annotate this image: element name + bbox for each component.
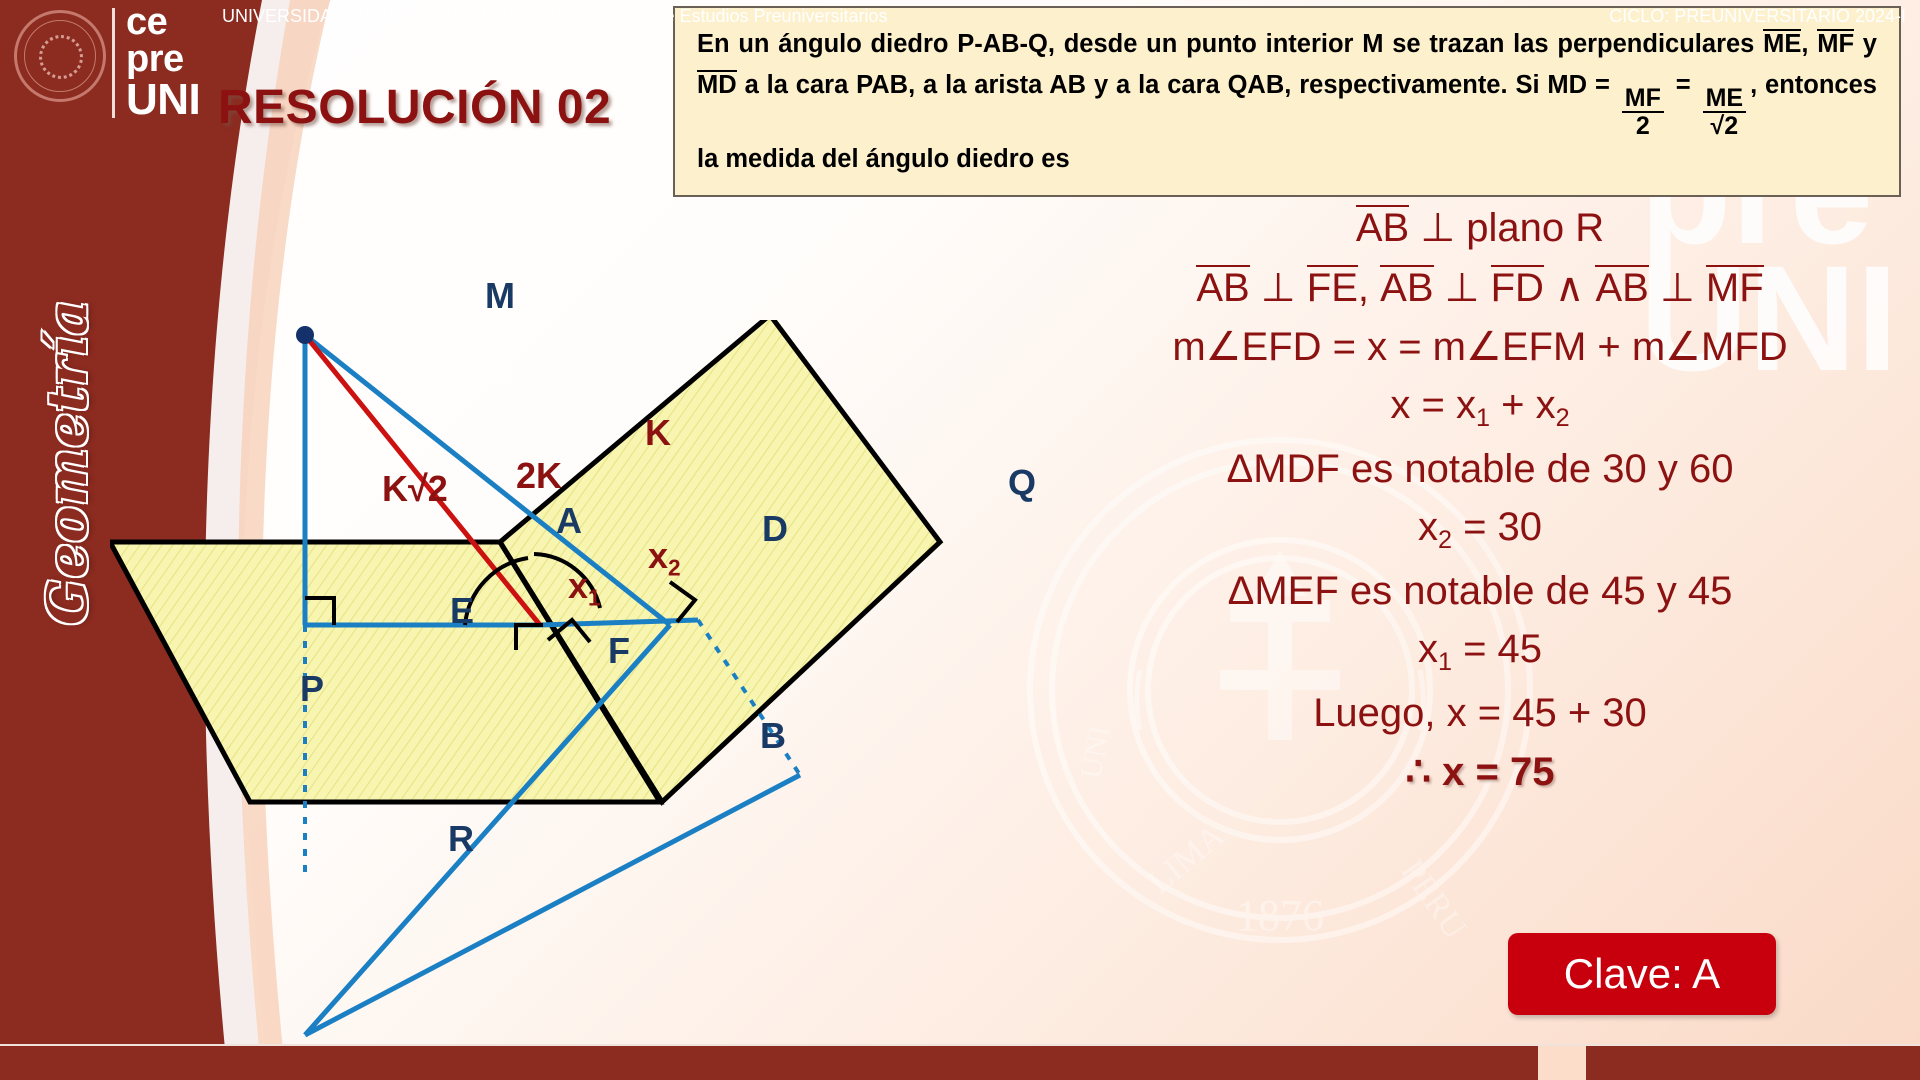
label-x1-sub: 1 [588,584,601,610]
x1-subscript: 1 [1438,649,1452,677]
x2-subscript: 2 [1438,526,1452,554]
logo-divider [112,8,115,118]
logo-line-uni: UNI [126,78,200,121]
segment-MF: MF [1817,29,1854,58]
footer-cycle-text: CICLO: PREUNIVERSITARIO 2024-I [1609,6,1906,27]
label-x1-base: x [568,565,588,606]
uni-seal-logo [14,10,106,102]
solution-line-final-answer: ∴ x = 75 [1060,751,1900,793]
label-E: E [450,590,474,632]
problem-statement-box: En un ángulo diedro P-AB-Q, desde un pun… [673,6,1901,197]
logo-line-pre: pre [126,41,200,78]
solution-seg-AB-2: AB [1196,265,1249,308]
problem-comma1: , [1801,30,1808,58]
label-sqrt2-part: √2 [408,468,448,509]
problem-text-part1: En un ángulo diedro P-AB-Q, desde un pun… [697,30,1754,58]
x-sum-sub1: 1 [1476,404,1490,432]
solution-line-mdf-notable: ΔMDF es notable de 30 y 60 [1060,448,1900,490]
problem-text-part2: a la cara PAB, a la arista AB y a la car… [745,71,1610,99]
solution-seg-AB-3: AB [1380,265,1433,308]
fraction1-denominator: 2 [1622,111,1664,139]
x-sum-pre: x = x [1390,383,1476,427]
label-x2-sub: 2 [668,554,681,580]
cepreuni-logo-text: ce pre UNI [126,4,200,122]
footer-institution-text: UNIVERSIDAD NACIONAL DE INGENIERÍA - Cen… [222,6,888,27]
logo-line-ce: ce [126,4,200,41]
x-sum-mid: + x [1490,383,1556,427]
solution-seg-FD: FD [1491,265,1544,308]
label-x2: x2 [648,535,681,581]
label-K: K [645,412,671,454]
solution-perp-1: ⊥ [1261,266,1296,310]
footer-bar [0,1044,1920,1080]
label-R: R [448,818,474,860]
solution-line-angle-efd: m∠EFD = x = m∠EFM + m∠MFD [1060,326,1900,368]
solution-line-x2-value: x2 = 30 [1060,506,1900,554]
problem-conj-y: y [1863,30,1877,58]
fraction2-numerator: ME [1703,86,1747,111]
solution-line-x-sum: x = x1 + x2 [1060,384,1900,432]
fraction-MF-over-2: MF 2 [1622,86,1664,139]
problem-equals: = [1676,71,1691,99]
x1-base: x [1418,627,1438,671]
solution-line-luego: Luego, x = 45 + 30 [1060,692,1900,734]
segment-MD: MD [697,70,737,99]
label-A: A [556,500,582,542]
x2-value: = 30 [1452,505,1542,549]
x-sum-sub2: 2 [1556,404,1570,432]
footer-gap-spacer [1538,1046,1586,1080]
x1-value: = 45 [1452,627,1542,671]
solution-seg-AB-4: AB [1595,265,1648,308]
svg-text:PERU: PERU [1393,853,1473,945]
label-P: P [300,668,324,710]
label-K-sqrt-2: K√2 [382,468,448,510]
solution-line-ab-perp-set: AB ⊥ FE, AB ⊥ FD ∧ AB ⊥ MF [1060,265,1900,309]
svg-text:LIMA: LIMA [1141,817,1232,901]
x2-base: x [1418,505,1438,549]
solution-line-mef-notable: ΔMEF es notable de 45 y 45 [1060,570,1900,612]
label-D: D [762,508,788,550]
solution-line1-rest: ⊥ plano R [1420,206,1604,250]
uni-seal-gear [39,35,83,79]
solution-steps: AB ⊥ plano R AB ⊥ FE, AB ⊥ FD ∧ AB ⊥ MF … [1060,205,1900,809]
solution-comma: , [1358,266,1369,310]
segment-R-long-2 [305,775,800,1035]
point-M [296,326,314,344]
solution-seg-MF: MF [1706,265,1764,308]
page-title: RESOLUCIÓN 02 [218,80,611,135]
label-Q: Q [1008,462,1036,504]
segment-ME: ME [1763,29,1801,58]
fraction-ME-over-sqrt2: ME √2 [1703,86,1747,139]
slide-root: ce pre UNI 1876 LIMA PERU UNI [0,0,1920,1080]
fraction1-numerator: MF [1622,86,1664,111]
label-B: B [760,715,786,757]
solution-line-ab-plano-r: AB ⊥ plano R [1060,205,1900,249]
label-M: M [485,275,515,317]
solution-perp-2: ⊥ [1445,266,1480,310]
solution-and-symbol: ∧ [1555,266,1584,310]
fraction2-denominator: √2 [1703,111,1747,139]
label-K-part: K [382,468,408,509]
label-x2-base: x [648,535,668,576]
label-F: F [608,630,630,672]
solution-line-x1-value: x1 = 45 [1060,628,1900,676]
subject-label-geometria: Geometría [35,297,99,627]
label-x1: x1 [568,565,601,611]
solution-seg-AB-1: AB [1356,205,1409,248]
answer-key-button[interactable]: Clave: A [1508,933,1776,1015]
svg-text:1876: 1876 [1236,891,1324,940]
solution-perp-3: ⊥ [1660,266,1695,310]
solution-seg-FE: FE [1307,265,1358,308]
label-2K: 2K [516,455,562,497]
geometry-diagram [110,320,980,1060]
